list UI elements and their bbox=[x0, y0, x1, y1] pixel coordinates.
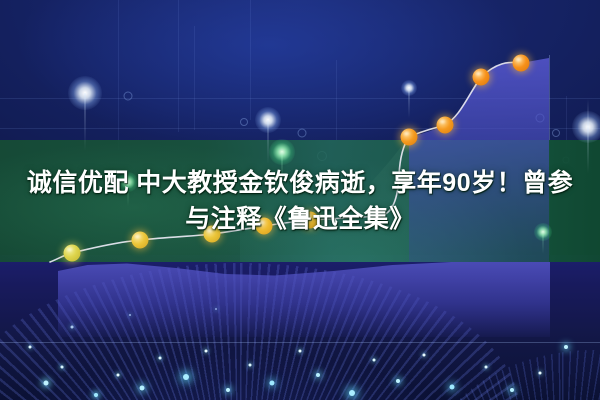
chart-point bbox=[437, 117, 454, 134]
chart-point bbox=[513, 55, 530, 72]
headline-line-2: 与注释《鲁迅全集》 bbox=[185, 204, 415, 234]
banner-image: 诚信优配 中大教授金钦俊病逝，享年90岁！曾参 与注释《鲁迅全集》 bbox=[0, 0, 600, 400]
chart-point bbox=[473, 69, 490, 86]
headline-text-block: 诚信优配 中大教授金钦俊病逝，享年90岁！曾参 与注释《鲁迅全集》 bbox=[0, 140, 600, 262]
headline-line-1: 诚信优配 中大教授金钦俊病逝，享年90岁！曾参 bbox=[27, 168, 573, 198]
